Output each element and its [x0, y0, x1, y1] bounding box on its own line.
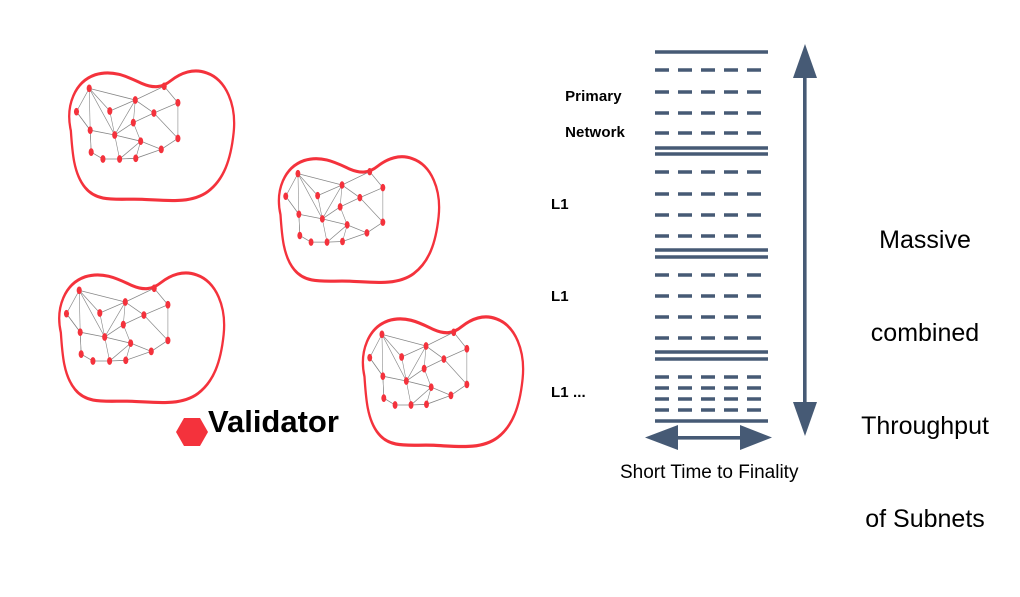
throughput-annotation: Massive combined Throughput of Subnets: [838, 163, 1012, 597]
group-l1-dots: [655, 359, 768, 421]
vertical-double-arrow: [793, 44, 817, 436]
throughput-line-4: of Subnets: [838, 504, 1012, 535]
throughput-line-1: Massive: [838, 225, 1012, 256]
diagram-canvas: Validator: [0, 0, 1020, 571]
label-primary-network-line1: Primary: [565, 88, 622, 105]
group-l1-1: [655, 154, 768, 250]
throughput-line-2: combined: [838, 318, 1012, 349]
group-l1-2: [655, 257, 768, 352]
label-primary-network-line2: Network: [565, 124, 625, 141]
label-l1-dots: L1 ...: [551, 384, 586, 402]
label-l1-1: L1: [551, 196, 569, 214]
throughput-line-3: Throughput: [838, 411, 1012, 442]
finality-annotation: Short Time to Finality: [620, 462, 798, 484]
horizontal-double-arrow: [645, 425, 772, 450]
group-primary-network: [655, 52, 768, 148]
label-l1-2: L1: [551, 288, 569, 306]
label-primary-network: Primary Network: [548, 70, 625, 160]
